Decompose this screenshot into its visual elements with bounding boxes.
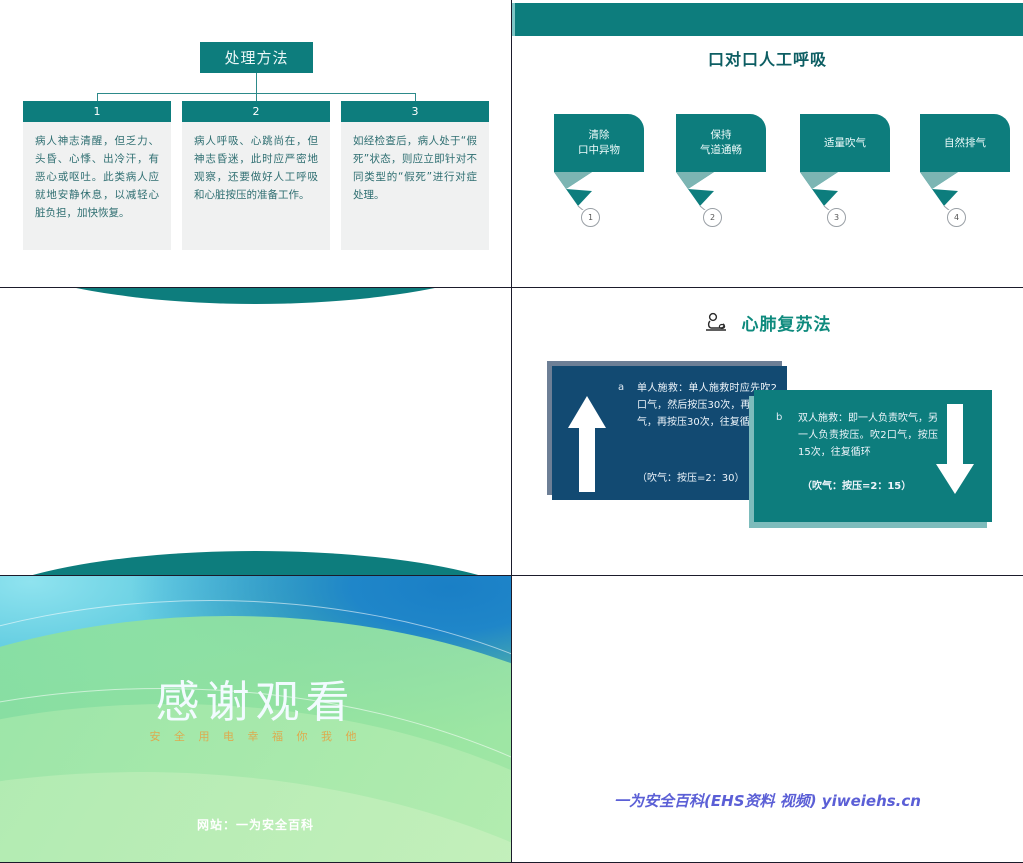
decor-arc-top (0, 288, 511, 304)
slide-panel-watermark: 一为安全百科(EHS资料 视频) yiweiehs.cn (512, 576, 1023, 863)
panel-title: 口对口人工呼吸 (512, 46, 1023, 70)
ribbon-tail-icon (798, 172, 850, 210)
treatment-column-2: 2 病人呼吸、心跳尚在，但神志昏迷，此时应严密地观察，还要做好人工呼吸和心脏按压… (182, 101, 330, 250)
step-tag-label: 适量吹气 (824, 136, 866, 151)
step-number-2: 2 (703, 208, 722, 227)
cpr-icon (704, 312, 728, 334)
step-number-1: 1 (581, 208, 600, 227)
grid-divider-horizontal-2 (0, 575, 1023, 576)
column-number: 2 (182, 101, 330, 122)
column-number: 1 (23, 101, 171, 122)
decor-arc-bottom (0, 551, 511, 575)
card-b-ratio: （吹气：按压=2：15） (802, 478, 962, 495)
site-credit: 网站：一为安全百科 (0, 816, 511, 833)
header-band (515, 3, 1023, 36)
watermark-text: 一为安全百科(EHS资料 视频) yiweiehs.cn (512, 790, 1023, 811)
grid-divider-vertical (511, 0, 512, 863)
ribbon-tail-icon (552, 172, 604, 210)
card-b-two-rescuer: b 双人施救：即一人负责吹气，另一人负责按压。吹2口气，按压15次，往复循环 （… (754, 390, 992, 522)
card-b-text: 双人施救：即一人负责吹气，另一人负责按压。吹2口气，按压15次，往复循环 (798, 410, 938, 461)
connector-vertical-root (256, 73, 257, 94)
panel-title-wrap: 心肺复苏法 (512, 310, 1023, 335)
card-a-key: a (618, 382, 624, 393)
card-b-key: b (776, 412, 782, 423)
treatment-column-3: 3 如经检查后，病人处于“假死”状态，则应立即针对不同类型的“假死”进行对症处理… (341, 101, 489, 250)
step-tag-label: 自然排气 (944, 136, 986, 151)
column-number: 3 (341, 101, 489, 122)
column-body: 病人神志清醒，但乏力、头昏、心悸、出冷汗，有恶心或呕吐。此类病人应就地安静休息，… (23, 122, 171, 250)
arrow-up-icon (566, 394, 608, 494)
step-number-3: 3 (827, 208, 846, 227)
step-tag-1: 清除 口中异物 (554, 114, 644, 172)
ribbon-tail-icon (674, 172, 726, 210)
flow-root-node: 处理方法 (200, 42, 313, 73)
step-tag-2: 保持 气道通畅 (676, 114, 766, 172)
column-body: 病人呼吸、心跳尚在，但神志昏迷，此时应严密地观察，还要做好人工呼吸和心脏按压的准… (182, 122, 330, 250)
slide-panel-treatment-methods: 处理方法 1 病人神志清醒，但乏力、头昏、心悸、出冷汗，有恶心或呕吐。此类病人应… (0, 0, 511, 287)
screenshot-root: 处理方法 1 病人神志清醒，但乏力、头昏、心悸、出冷汗，有恶心或呕吐。此类病人应… (0, 0, 1023, 863)
thanks-title: 感谢观看 (0, 666, 511, 730)
treatment-column-1: 1 病人神志清醒，但乏力、头昏、心悸、出冷汗，有恶心或呕吐。此类病人应就地安静休… (23, 101, 171, 250)
step-number-4: 4 (947, 208, 966, 227)
ribbon-tail-icon (918, 172, 970, 210)
panel-title: 心肺复苏法 (741, 315, 831, 335)
slide-panel-mouth-to-mouth: 口对口人工呼吸 清除 口中异物 1 保持 气道通畅 2 适量吹气 3 (512, 0, 1023, 287)
slide-panel-cpr-method: 心肺复苏法 a 单人施救：单人施救时应先吹2口气，然后按压30次，再吹2口气，再… (512, 288, 1023, 575)
step-tag-3: 适量吹气 (800, 114, 890, 172)
step-tag-4: 自然排气 (920, 114, 1010, 172)
column-body: 如经检查后，病人处于“假死”状态，则应立即针对不同类型的“假死”进行对症处理。 (341, 122, 489, 250)
slide-panel-thank-you: 感谢观看 安 全 用 电 幸 福 你 我 他 网站：一为安全百科 (0, 576, 511, 863)
grid-divider-horizontal-1 (0, 287, 1023, 288)
slide-panel-chest-compression: 胸外按压 操作步骤 按压的深度 3—5cm 按压的频率 100次 / 分钟 注意… (0, 288, 511, 575)
step-tag-label: 保持 气道通畅 (700, 128, 742, 158)
thanks-subtitle: 安 全 用 电 幸 福 你 我 他 (0, 728, 511, 744)
step-tag-label: 清除 口中异物 (578, 128, 620, 158)
